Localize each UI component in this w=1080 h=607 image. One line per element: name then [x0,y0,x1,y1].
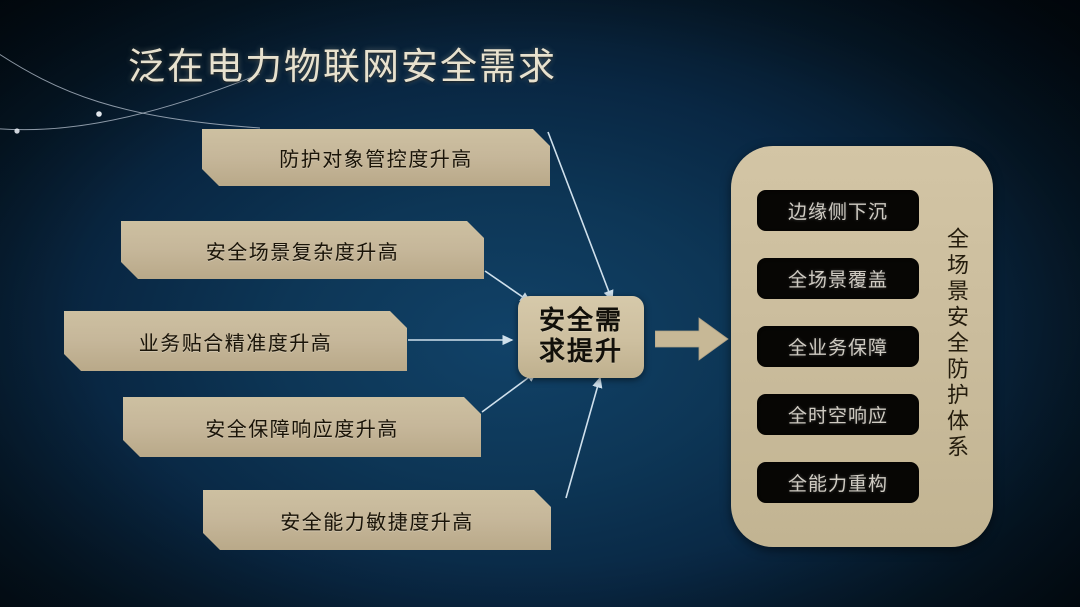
slide-canvas: 泛在电力物联网安全需求 防护对象管控度升高 安全场景复杂度升高 业务贴合精准度升… [0,0,1080,607]
panel-pill-list: 边缘侧下沉 全场景覆盖 全业务保障 全时空响应 全能力重构 [731,146,919,547]
panel-pill-1[interactable]: 边缘侧下沉 [757,190,919,231]
block-arrow-right [655,315,729,363]
cause-label: 防护对象管控度升高 [279,143,473,172]
pill-label: 全能力重构 [788,469,888,496]
hub-line-1: 安全需 [539,306,623,337]
pill-label: 边缘侧下沉 [788,197,888,224]
cause-box-5[interactable]: 安全能力敏捷度升高 [203,490,551,550]
pill-label: 全业务保障 [788,333,888,360]
page-title: 泛在电力物联网安全需求 [128,36,557,90]
panel-pill-4[interactable]: 全时空响应 [757,394,919,435]
cause-label: 安全场景复杂度升高 [206,236,400,265]
cause-label: 安全能力敏捷度升高 [280,506,474,535]
pill-label: 全场景覆盖 [788,265,888,292]
hub-line-2: 求提升 [539,337,623,368]
cause-label: 业务贴合精准度升高 [139,327,333,356]
pill-label: 全时空响应 [788,401,888,428]
panel-vertical-title: 全场景安全防护体系 [919,146,993,547]
arrow-cause-4 [482,372,536,412]
arrow-cause-5 [566,378,600,498]
cause-box-1[interactable]: 防护对象管控度升高 [202,129,550,186]
panel-pill-3[interactable]: 全业务保障 [757,326,919,367]
hub-box[interactable]: 安全需 求提升 [518,296,644,378]
cause-box-4[interactable]: 安全保障响应度升高 [123,397,481,457]
panel-pill-2[interactable]: 全场景覆盖 [757,258,919,299]
arrow-cause-1 [548,132,612,300]
defense-system-panel: 边缘侧下沉 全场景覆盖 全业务保障 全时空响应 全能力重构 全场景安全防护体系 [731,146,993,547]
cause-box-2[interactable]: 安全场景复杂度升高 [121,221,484,279]
cause-box-3[interactable]: 业务贴合精准度升高 [64,311,407,371]
cause-label: 安全保障响应度升高 [205,413,399,442]
panel-pill-5[interactable]: 全能力重构 [757,462,919,503]
